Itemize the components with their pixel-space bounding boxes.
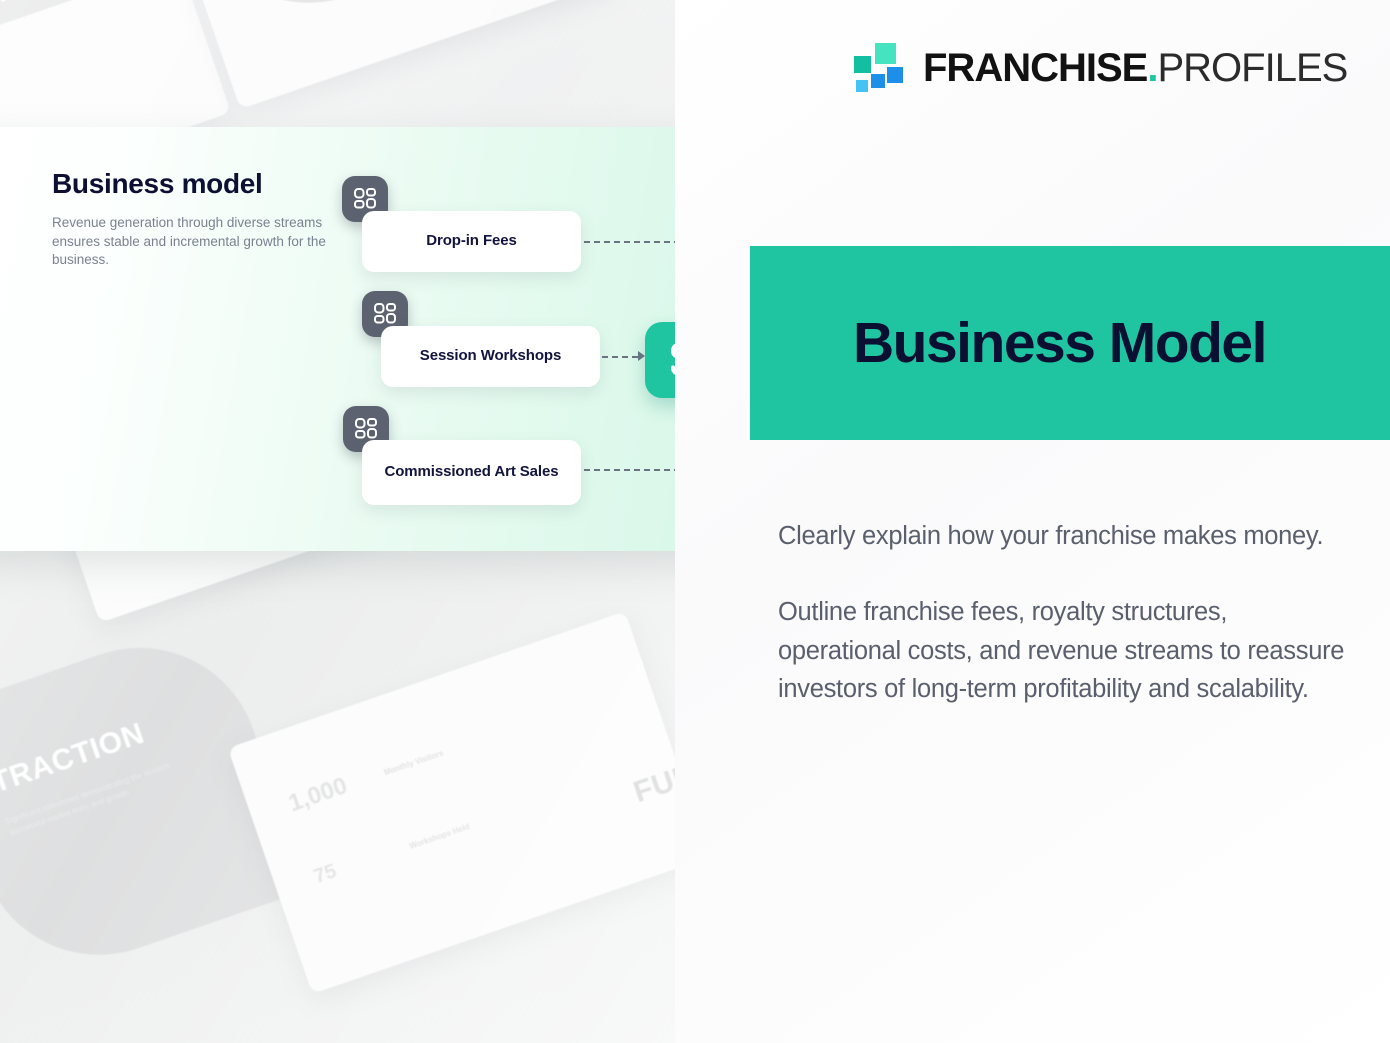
brand-wordmark: FRANCHISE.PROFILES: [923, 48, 1347, 88]
revenue-stream-label: Session Workshops: [420, 347, 561, 366]
revenue-stream-label: Commissioned Art Sales: [385, 463, 559, 482]
description-paragraph-2: Outline franchise fees, royalty structur…: [778, 593, 1353, 708]
section-description: Clearly explain how your franchise makes…: [778, 517, 1353, 708]
brand-dot: .: [1147, 46, 1157, 90]
bg-stat-value: 75: [311, 860, 340, 889]
brand-name-light: PROFILES: [1157, 46, 1347, 90]
page-title: Business model: [52, 168, 352, 200]
page-subtitle: Revenue generation through diverse strea…: [52, 214, 352, 270]
revenue-stream-box[interactable]: Session Workshops: [381, 326, 600, 387]
preview-card-heading: Business model Revenue generation throug…: [52, 168, 352, 270]
brand-logo: FRANCHISE.PROFILES: [853, 42, 1347, 94]
bg-blob: [0, 0, 113, 67]
logo-square-sky: [856, 80, 868, 92]
revenue-stream-label: Drop-in Fees: [426, 232, 516, 251]
revenue-stream-box[interactable]: Drop-in Fees: [362, 211, 581, 272]
bg-slide-title: FUNDING: [630, 733, 675, 808]
bg-blob: [169, 0, 470, 35]
bg-stat-label: Workshops Held: [408, 803, 525, 852]
logo-square-blue: [887, 67, 903, 83]
revenue-stream-box[interactable]: Commissioned Art Sales: [362, 440, 581, 505]
bg-stat-label: Monthly Visitors: [383, 730, 500, 779]
brand-name-bold: FRANCHISE: [923, 46, 1147, 90]
banner-title: Business Model: [853, 315, 1266, 372]
logo-squares-icon: [853, 42, 905, 94]
bg-stat-value: 1,000: [285, 772, 351, 818]
logo-square-mint-light: [875, 43, 896, 64]
slide-canvas: MARKET paces in urban and a substantial …: [0, 0, 1390, 1043]
logo-square-blue-2: [871, 74, 885, 88]
logo-square-teal-dark: [854, 56, 871, 73]
description-paragraph-1: Clearly explain how your franchise makes…: [778, 517, 1353, 555]
right-panel: FRANCHISE.PROFILES Business Model Clearl…: [675, 0, 1390, 1043]
section-banner: Business Model: [750, 246, 1390, 440]
